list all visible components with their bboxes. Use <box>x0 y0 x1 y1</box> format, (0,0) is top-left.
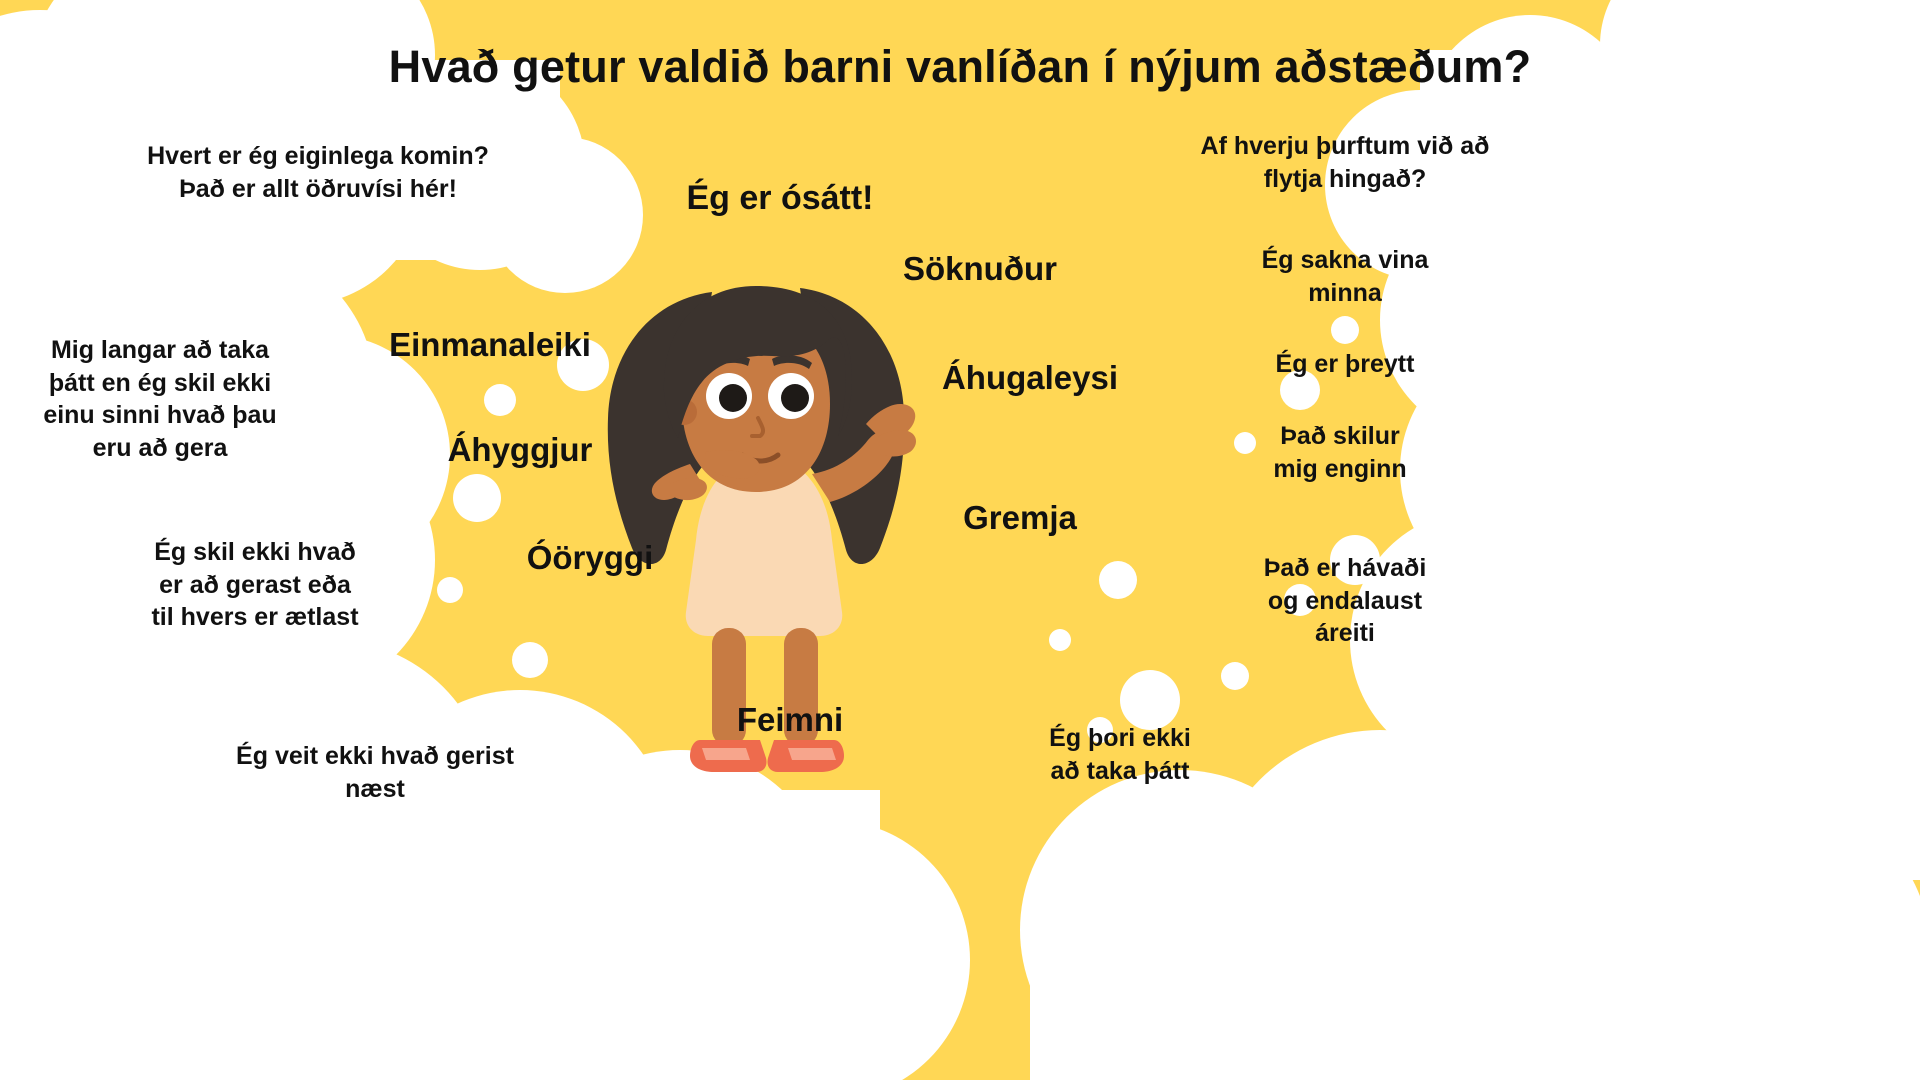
infographic-canvas: Hvað getur valdið barni vanlíðan í nýjum… <box>0 0 1920 1080</box>
emotion-gremja: Gremja <box>920 498 1120 538</box>
thought-bubble-right-6: Ég þori ekki að taka þátt <box>980 722 1260 787</box>
thought-bubble-left-2: Mig langar að taka þátt en ég skil ekki … <box>10 334 310 464</box>
text-layer: Hvað getur valdið barni vanlíðan í nýjum… <box>0 0 1920 1080</box>
thought-bubble-left-1: Hvert er ég eiginlega komin? Það er allt… <box>88 140 548 205</box>
thought-bubble-right-3: Ég er þreytt <box>1200 348 1490 381</box>
emotion-feimni: Feimni <box>680 700 900 740</box>
thought-bubble-right-4: Það skilur mig enginn <box>1200 420 1480 485</box>
emotion-ahyggjur: Áhyggjur <box>400 430 640 470</box>
emotion-einmanaleiki: Einmanaleiki <box>350 325 630 365</box>
thought-bubble-left-4: Ég veit ekki hvað gerist næst <box>175 740 575 805</box>
emotion-eg-er-osatt: Ég er ósátt! <box>620 178 940 219</box>
thought-bubble-right-1: Af hverju þurftum við að flytja hingað? <box>1145 130 1545 195</box>
emotion-ahugaleysi: Áhugaleysi <box>900 358 1160 398</box>
emotion-ooryggi: Óöryggi <box>470 538 710 578</box>
thought-bubble-right-2: Ég sakna vina minna <box>1205 244 1485 309</box>
emotion-soknudur: Söknuður <box>850 249 1110 289</box>
thought-bubble-right-5: Það er hávaði og endalaust áreiti <box>1205 552 1485 650</box>
page-title: Hvað getur valdið barni vanlíðan í nýjum… <box>0 40 1920 95</box>
thought-bubble-left-3: Ég skil ekki hvað er að gerast eða til h… <box>110 536 400 634</box>
